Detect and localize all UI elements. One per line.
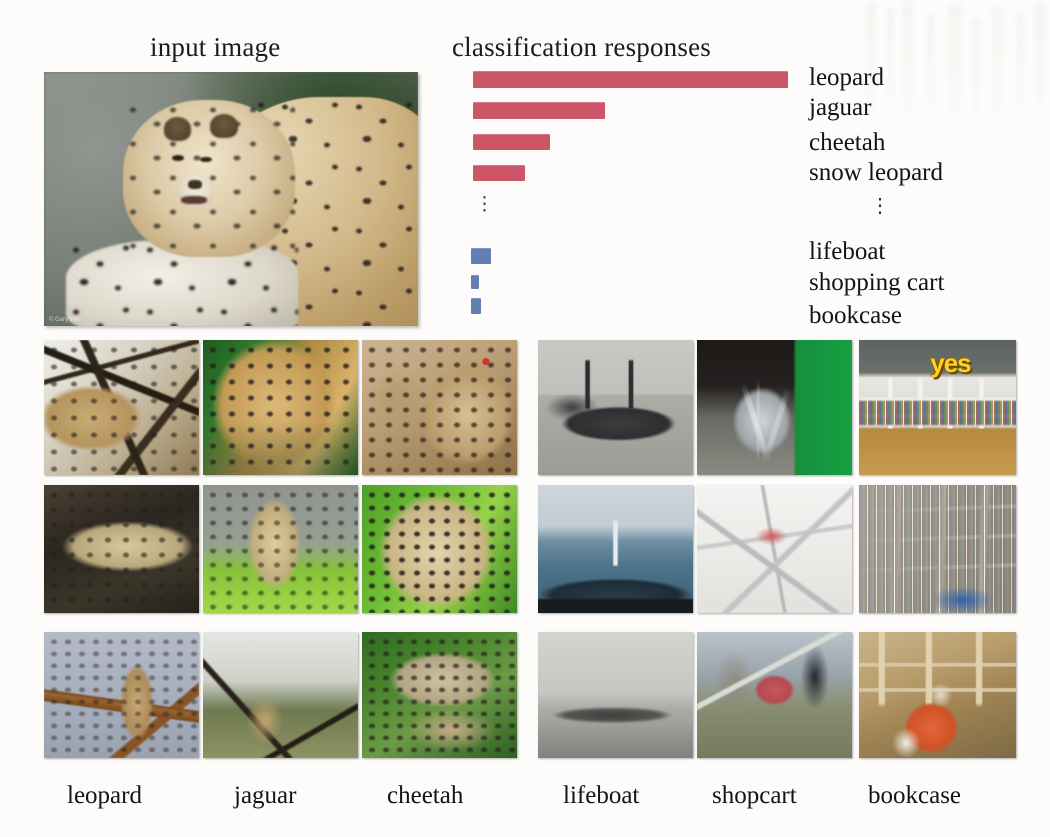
bottom-label-cheetah: cheetah <box>387 782 463 810</box>
classification-responses-heading: classification responses <box>452 32 711 63</box>
thumbnail-shopcart-r1 <box>697 340 852 475</box>
photo-leopard-ear-left <box>164 117 192 141</box>
thumbnail-shopcart-r3 <box>697 632 852 758</box>
bottom-label-lifeboat: lifeboat <box>563 782 639 810</box>
bar-cheetah <box>473 134 550 150</box>
thumbnail-jaguar-r2 <box>203 485 358 613</box>
bottom-label-leopard: leopard <box>67 782 142 810</box>
bars-ellipsis: ⋮ <box>475 200 489 210</box>
bar-lifeboat <box>471 248 491 264</box>
bar-jaguar <box>473 102 605 119</box>
thumbnail-shopcart-r2 <box>697 485 852 613</box>
labels-ellipsis: ⋮ <box>870 200 888 212</box>
bottom-label-jaguar: jaguar <box>234 782 296 810</box>
thumbnail-leopard-r3 <box>44 632 199 758</box>
photo-leopard-head <box>123 100 295 257</box>
photo-credit: © Gary Yim <box>49 317 80 323</box>
bottom-label-shopcart: shopcart <box>712 782 797 810</box>
label-snow-leopard: snow leopard <box>809 160 943 185</box>
input-image-heading: input image <box>150 32 280 63</box>
thumbnail-bookcase-r1: yes <box>859 340 1016 475</box>
bar-shopping-cart <box>471 275 479 289</box>
label-jaguar: jaguar <box>809 95 871 120</box>
thumbnail-bookcase-r2 <box>859 485 1016 613</box>
thumbnail-cheetah-r3 <box>362 632 517 758</box>
thumbnail-cheetah-r1 <box>362 340 517 475</box>
thumbnail-lifeboat-r3 <box>538 632 693 758</box>
background-watermark <box>860 0 1050 120</box>
label-leopard: leopard <box>809 65 884 90</box>
thumbnail-jaguar-r3 <box>203 632 358 758</box>
thumbnail-leopard-r1 <box>44 340 199 475</box>
photo-leopard-ear-right <box>210 114 238 138</box>
label-shopping-cart: shopping cart <box>809 270 944 295</box>
bar-leopard <box>473 71 788 88</box>
bottom-label-bookcase: bookcase <box>868 782 961 810</box>
overlay-text-yes: yes <box>930 348 970 379</box>
label-cheetah: cheetah <box>809 130 885 155</box>
label-lifeboat: lifeboat <box>809 239 885 264</box>
thumbnail-lifeboat-r1 <box>538 340 693 475</box>
figure-root: input image classification responses © G… <box>0 0 1050 837</box>
input-image-photo: © Gary Yim <box>44 72 418 326</box>
thumbnail-bookcase-r3 <box>859 632 1016 758</box>
photo-leopard-nose <box>188 180 202 189</box>
thumbnail-cheetah-r2 <box>362 485 517 613</box>
thumbnail-jaguar-r1 <box>203 340 358 475</box>
bar-snow-leopard <box>473 165 525 181</box>
photo-leopard-eye-left <box>172 155 184 161</box>
photo-leopard-mouth <box>181 196 207 204</box>
bar-bookcase <box>471 298 481 314</box>
thumbnail-lifeboat-r2 <box>538 485 693 613</box>
label-bookcase: bookcase <box>809 303 902 328</box>
thumbnail-leopard-r2 <box>44 485 199 613</box>
